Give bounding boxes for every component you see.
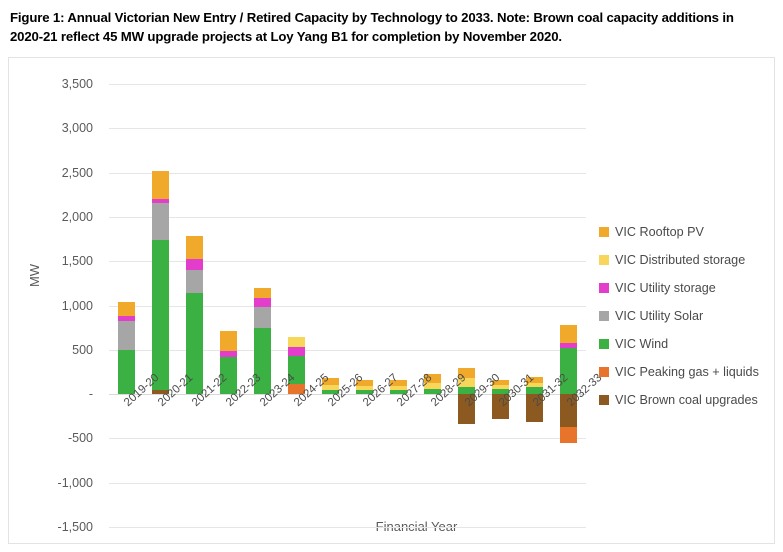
- gridline: [109, 261, 586, 262]
- y-axis-tick-label: 2,000: [23, 210, 93, 224]
- legend-swatch-icon: [599, 311, 609, 321]
- bar-stack[interactable]: [424, 84, 441, 527]
- bar-segment[interactable]: [220, 351, 237, 357]
- chart-legend: VIC Rooftop PVVIC Distributed storageVIC…: [599, 218, 779, 414]
- legend-label: VIC Utility Solar: [615, 309, 703, 323]
- y-axis-tick-label: 3,500: [23, 77, 93, 91]
- legend-label: VIC Brown coal upgrades: [615, 393, 758, 407]
- y-axis-tick-label: 1,500: [23, 254, 93, 268]
- y-axis-tick-label: 1,000: [23, 299, 93, 313]
- legend-label: VIC Rooftop PV: [615, 225, 704, 239]
- y-axis-tick-label: -: [23, 387, 93, 401]
- legend-label: VIC Wind: [615, 337, 668, 351]
- bar-stack[interactable]: [186, 84, 203, 527]
- legend-item[interactable]: VIC Brown coal upgrades: [599, 386, 779, 414]
- bar-segment[interactable]: [560, 343, 577, 348]
- y-axis-tick-label: -1,000: [23, 476, 93, 490]
- bar-segment[interactable]: [254, 288, 271, 298]
- bar-stack[interactable]: [152, 84, 169, 527]
- legend-label: VIC Distributed storage: [615, 253, 745, 267]
- legend-swatch-icon: [599, 339, 609, 349]
- bar-segment[interactable]: [152, 240, 169, 390]
- bar-segment[interactable]: [186, 259, 203, 270]
- bar-stack[interactable]: [356, 84, 373, 527]
- bar-segment[interactable]: [118, 302, 135, 316]
- bar-segment[interactable]: [186, 270, 203, 293]
- figure-caption: Figure 1: Annual Victorian New Entry / R…: [10, 8, 770, 46]
- bar-segment[interactable]: [254, 307, 271, 327]
- legend-item[interactable]: VIC Peaking gas + liquids: [599, 358, 779, 386]
- y-axis-tick-label: 3,000: [23, 121, 93, 135]
- legend-label: VIC Utility storage: [615, 281, 716, 295]
- bar-segment[interactable]: [118, 316, 135, 321]
- bar-stack[interactable]: [390, 84, 407, 527]
- bar-stack[interactable]: [254, 84, 271, 527]
- gridline: [109, 173, 586, 174]
- bar-stack[interactable]: [560, 84, 577, 527]
- bar-segment[interactable]: [560, 427, 577, 443]
- bar-segment[interactable]: [186, 236, 203, 260]
- y-axis-tick-label: 500: [23, 343, 93, 357]
- legend-swatch-icon: [599, 283, 609, 293]
- bar-segment[interactable]: [152, 171, 169, 199]
- gridline: [109, 306, 586, 307]
- gridline: [109, 128, 586, 129]
- bar-stack[interactable]: [118, 84, 135, 527]
- gridline: [109, 84, 586, 85]
- bar-stack[interactable]: [526, 84, 543, 527]
- chart-container: MW Financial Year 3,5003,0002,5002,0001,…: [8, 57, 775, 544]
- gridline: [109, 483, 586, 484]
- legend-item[interactable]: VIC Rooftop PV: [599, 218, 779, 246]
- legend-label: VIC Peaking gas + liquids: [615, 365, 759, 379]
- gridline: [109, 527, 586, 528]
- bar-segment[interactable]: [220, 331, 237, 350]
- bar-segment[interactable]: [288, 337, 305, 348]
- legend-item[interactable]: VIC Utility Solar: [599, 302, 779, 330]
- bar-segment[interactable]: [118, 350, 135, 394]
- bar-stack[interactable]: [288, 84, 305, 527]
- bar-stack[interactable]: [458, 84, 475, 527]
- y-axis-tick-label: 2,500: [23, 166, 93, 180]
- bar-segment[interactable]: [152, 199, 169, 203]
- legend-swatch-icon: [599, 255, 609, 265]
- gridline: [109, 217, 586, 218]
- legend-item[interactable]: VIC Utility storage: [599, 274, 779, 302]
- gridline: [109, 438, 586, 439]
- plot-area: 3,5003,0002,5002,0001,5001,000500--500-1…: [109, 84, 586, 527]
- legend-item[interactable]: VIC Distributed storage: [599, 246, 779, 274]
- bar-stack[interactable]: [492, 84, 509, 527]
- bar-segment[interactable]: [254, 298, 271, 308]
- legend-item[interactable]: VIC Wind: [599, 330, 779, 358]
- y-axis-tick-label: -1,500: [23, 520, 93, 534]
- bar-stack[interactable]: [322, 84, 339, 527]
- y-axis-tick-label: -500: [23, 431, 93, 445]
- bar-segment[interactable]: [118, 321, 135, 350]
- bar-segment[interactable]: [288, 347, 305, 356]
- legend-swatch-icon: [599, 395, 609, 405]
- legend-swatch-icon: [599, 367, 609, 377]
- bar-segment[interactable]: [152, 203, 169, 240]
- bar-stack[interactable]: [220, 84, 237, 527]
- legend-swatch-icon: [599, 227, 609, 237]
- bar-segment[interactable]: [560, 325, 577, 343]
- gridline: [109, 350, 586, 351]
